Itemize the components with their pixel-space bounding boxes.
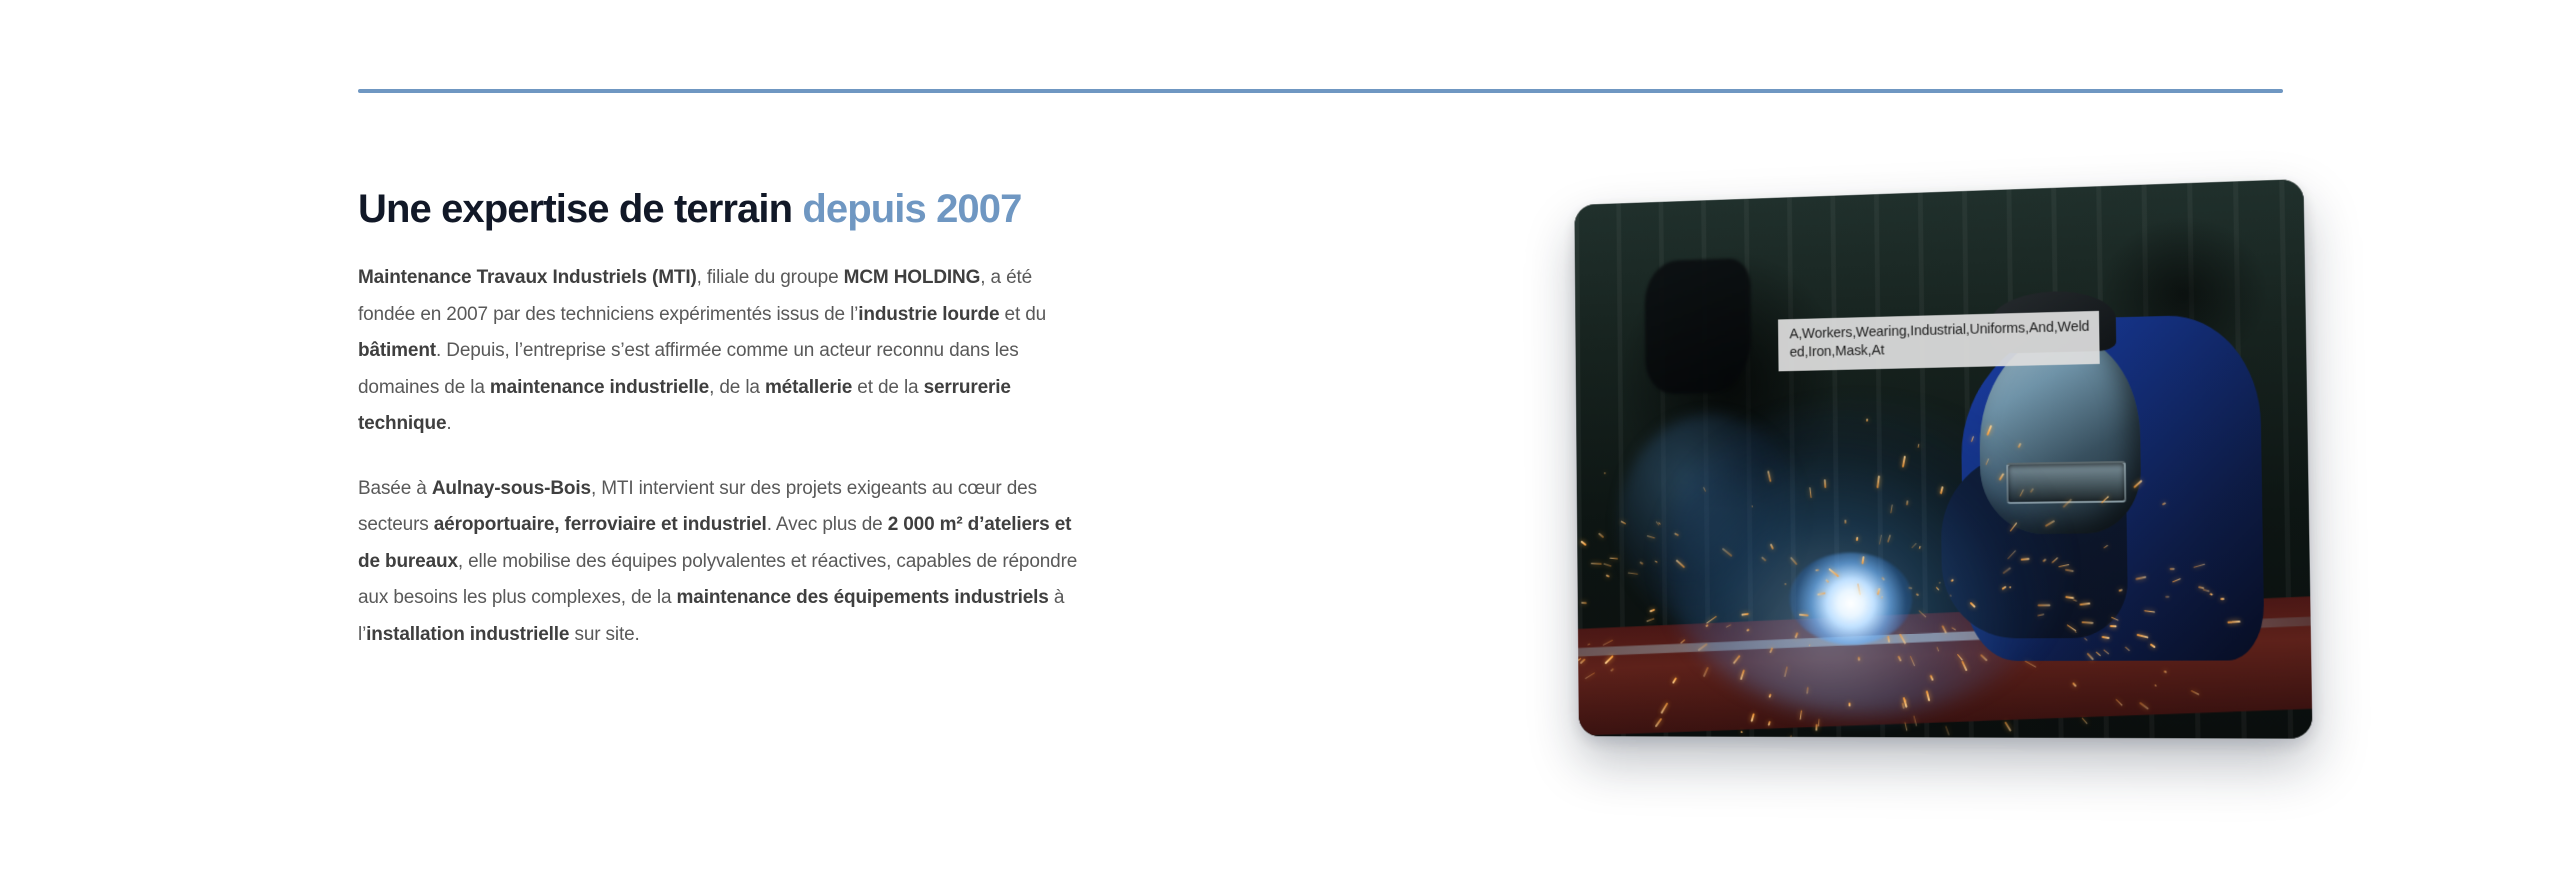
spark-particle (2203, 588, 2210, 592)
spark-particle (1915, 592, 1919, 596)
spark-particle (1640, 562, 1644, 566)
paragraph-company-history: Maintenance Travaux Industriels (MTI), f… (358, 260, 1083, 443)
spark-particle (1957, 654, 1963, 661)
spark-particle (1877, 589, 1881, 596)
spark-particle (2025, 661, 2036, 668)
spark-particle (2102, 496, 2110, 503)
emphasis-text: maintenance industrielle (490, 377, 709, 398)
emphasis-text: maintenance des équipements industriels (677, 587, 1049, 608)
spark-particle (2164, 671, 2167, 674)
spark-particle (2059, 565, 2070, 569)
emphasis-text: MCM HOLDING (844, 267, 981, 288)
spark-particle (1794, 632, 1798, 638)
spark-particle (2103, 544, 2108, 548)
emphasis-text: bâtiment (358, 340, 436, 361)
spark-particle (1936, 587, 1939, 590)
spark-particle (1904, 723, 1907, 731)
spark-particle (1809, 488, 1812, 499)
spark-particle (1590, 563, 1601, 565)
spark-particle (2169, 568, 2174, 570)
spark-particle (1998, 473, 2004, 481)
spark-particle (1784, 666, 1787, 677)
spark-particle (1581, 602, 1587, 604)
spark-particle (1740, 669, 1745, 680)
spark-particle (2045, 520, 2055, 527)
spark-particle (2038, 614, 2045, 617)
spark-particle (2191, 691, 2199, 696)
spark-particle (1610, 557, 1618, 559)
spark-particle (1770, 544, 1774, 550)
spark-particle (1784, 583, 1787, 586)
spark-particle (1919, 610, 1926, 617)
spark-particle (1897, 655, 1901, 661)
spark-particle (1676, 559, 1686, 568)
spark-particle (2150, 643, 2156, 648)
emphasis-text: aéroportuaire, ferroviaire et industriel (434, 514, 767, 535)
spark-particle (2038, 604, 2051, 606)
spark-particle (1660, 702, 1668, 714)
page-title: Une expertise de terrain depuis 2007 (358, 186, 1083, 233)
spark-particle (1580, 658, 1586, 664)
spark-particle (1628, 572, 1638, 574)
spark-particle (1906, 500, 1909, 505)
spark-particle (2010, 523, 2017, 532)
spark-particle (1790, 735, 1792, 739)
spark-particle (1987, 425, 1993, 436)
body-text: , de la (709, 377, 765, 398)
spark-particle (1588, 643, 1591, 645)
spark-particle (2227, 620, 2240, 623)
spark-particle (1674, 533, 1679, 536)
spark-particle (1949, 595, 1952, 597)
section-content: Une expertise de terrain depuis 2007 Mai… (0, 0, 2560, 875)
spark-particle (1655, 718, 1662, 728)
spark-particle (2086, 652, 2094, 660)
spark-particle (1603, 640, 1613, 646)
body-text: et de la (852, 377, 923, 398)
spark-particle (1585, 672, 1595, 678)
spark-particle (2008, 550, 2017, 559)
spark-particle (1604, 655, 1613, 664)
spark-particle (1606, 574, 1610, 577)
paragraph-location-sectors: Basée à Aulnay-sous-Bois, MTI intervient… (358, 471, 1083, 654)
spark-particle (1899, 633, 1906, 644)
spark-particle (1621, 521, 1627, 525)
spark-particle (2101, 636, 2110, 639)
spark-particle (1910, 655, 1915, 666)
spark-particle (1939, 487, 1943, 495)
spark-particle (1849, 702, 1851, 706)
spark-particle (1703, 667, 1709, 678)
spark-particle (2103, 649, 2109, 654)
spark-particle (1681, 639, 1686, 643)
spark-particle (1970, 601, 1976, 607)
body-text: . Avec plus de (767, 514, 888, 535)
spark-particle (1825, 578, 1829, 582)
spark-particle (2073, 599, 2077, 601)
spark-particle (2081, 718, 2087, 725)
spark-particle (2001, 585, 2006, 590)
spark-particle (2220, 598, 2224, 600)
spark-particle (2080, 602, 2090, 605)
spark-particle (2162, 502, 2166, 506)
text-column: Une expertise de terrain depuis 2007 Mai… (358, 186, 1083, 653)
spark-particle (2115, 699, 2122, 706)
spark-particle (1800, 710, 1802, 720)
spark-particle (1951, 579, 1954, 582)
spark-particle (1817, 592, 1826, 595)
spark-particle (1806, 688, 1808, 694)
spark-particle (1722, 547, 1733, 556)
spark-particle (2110, 625, 2116, 628)
spark-particle (1790, 556, 1798, 565)
spark-particle (1887, 636, 1890, 643)
spark-particle (1706, 616, 1717, 624)
spark-particle (2119, 589, 2123, 592)
spark-particle (2082, 621, 2094, 623)
spark-particle (2111, 616, 2119, 620)
spark-particle (1961, 661, 1967, 671)
spark-particle (2125, 646, 2131, 651)
spark-particle (2210, 593, 2213, 596)
spark-particle (1877, 476, 1881, 488)
spark-particle (1971, 437, 1974, 443)
spark-particle (1930, 675, 1934, 681)
spark-particle (1767, 471, 1771, 482)
spark-particle (2144, 610, 2155, 613)
spark-particle (1942, 624, 1948, 633)
spark-particle (2009, 587, 2011, 589)
spark-particle (1768, 721, 1771, 726)
page-root: Une expertise de terrain depuis 2007 Mai… (0, 0, 2560, 875)
spark-particle (1912, 543, 1918, 549)
body-text: . (446, 413, 451, 434)
spark-particle (2135, 576, 2146, 580)
spark-particle (1879, 535, 1882, 545)
spark-particle (1985, 459, 1989, 466)
spark-particle (2030, 488, 2034, 493)
spark-particle (1761, 556, 1766, 561)
spark-particle (2043, 559, 2047, 563)
spark-particle (1752, 506, 1754, 508)
spark-field (1574, 179, 2312, 739)
spark-particle (1881, 576, 1885, 580)
spark-particle (2134, 480, 2143, 489)
spark-particle (2166, 596, 2170, 598)
spark-particle (1902, 455, 1906, 467)
spark-particle (1858, 583, 1861, 595)
spark-particle (1604, 563, 1612, 567)
spark-particle (2002, 567, 2011, 575)
spark-particle (1939, 582, 1941, 584)
spark-particle (1799, 614, 1809, 617)
spark-particle (2065, 568, 2074, 572)
spark-particle (1845, 520, 1847, 524)
emphasis-text: installation industrielle (366, 624, 569, 645)
emphasis-text: industrie lourde (858, 304, 999, 325)
spark-particle (1918, 444, 1920, 448)
spark-particle (1809, 643, 1811, 646)
spark-particle (1919, 546, 1921, 550)
spark-particle (2063, 498, 2073, 508)
spark-particle (1751, 714, 1755, 722)
spark-particle (1654, 560, 1657, 562)
spark-particle (1936, 646, 1939, 651)
spark-particle (2073, 683, 2077, 688)
spark-particle (1646, 618, 1654, 622)
spark-particle (1769, 647, 1773, 653)
body-text: et du (999, 304, 1046, 325)
spark-particle (1598, 532, 1604, 537)
emphasis-text: Aulnay-sous-Bois (432, 478, 591, 499)
spark-particle (1603, 472, 1606, 475)
spark-particle (2172, 578, 2180, 582)
spark-particle (1856, 536, 1858, 540)
body-text: Basée à (358, 478, 432, 499)
spark-particle (2154, 684, 2156, 686)
spark-particle (1650, 610, 1655, 613)
welding-photo-card[interactable]: A,Workers,Wearing,Industrial,Uniforms,An… (1574, 179, 2312, 739)
spark-particle (2074, 631, 2076, 633)
spark-particle (1733, 655, 1741, 665)
spark-particle (1698, 643, 1708, 651)
spark-particle (1890, 504, 1892, 513)
spark-particle (2193, 564, 2205, 568)
spark-particle (1742, 613, 1750, 616)
spark-particle (1610, 669, 1614, 672)
spark-particle (1818, 718, 1820, 726)
spark-particle (1926, 690, 1931, 701)
spark-particle (1980, 653, 1988, 661)
body-text: sur site. (569, 624, 639, 645)
spark-particle (1952, 627, 1957, 630)
spark-particle (2083, 638, 2087, 642)
spark-particle (1746, 629, 1749, 632)
spark-particle (1888, 535, 1892, 543)
spark-particle (1581, 540, 1587, 545)
spark-particle (2052, 557, 2059, 563)
spark-particle (1859, 657, 1861, 661)
spark-particle (1945, 726, 1950, 736)
spark-particle (2139, 702, 2149, 710)
spark-particle (1705, 624, 1709, 627)
spark-particle (1703, 487, 1706, 492)
media-column: A,Workers,Wearing,Industrial,Uniforms,An… (1548, 178, 2318, 758)
spark-particle (2095, 652, 2100, 657)
spark-particle (1740, 731, 1742, 733)
spark-particle (2136, 634, 2149, 639)
spark-particle (1815, 569, 1819, 571)
body-text: , filiale du groupe (697, 267, 844, 288)
spark-particle (1913, 716, 1917, 726)
spark-particle (2019, 489, 2024, 497)
spark-particle (1647, 536, 1656, 539)
spark-particle (2017, 443, 2021, 448)
spark-particle (1768, 694, 1771, 698)
page-title-accent: depuis 2007 (802, 187, 1021, 231)
spark-particle (1824, 479, 1827, 488)
spark-particle (1908, 586, 1912, 589)
spark-particle (1672, 677, 1677, 684)
spark-particle (1815, 724, 1818, 731)
emphasis-text: métallerie (765, 377, 852, 398)
spark-particle (2004, 721, 2012, 731)
image-alt-text-overlay: A,Workers,Wearing,Industrial,Uniforms,An… (1778, 310, 2100, 370)
spark-particle (2020, 557, 2029, 560)
spark-particle (1866, 419, 1868, 422)
spark-particle (1726, 624, 1731, 628)
spark-particle (1862, 557, 1865, 565)
spark-particle (1829, 568, 1840, 578)
emphasis-text: Maintenance Travaux Industriels (MTI) (358, 267, 697, 288)
spark-particle (1881, 596, 1883, 599)
page-title-lead: Une expertise de terrain (358, 187, 802, 231)
